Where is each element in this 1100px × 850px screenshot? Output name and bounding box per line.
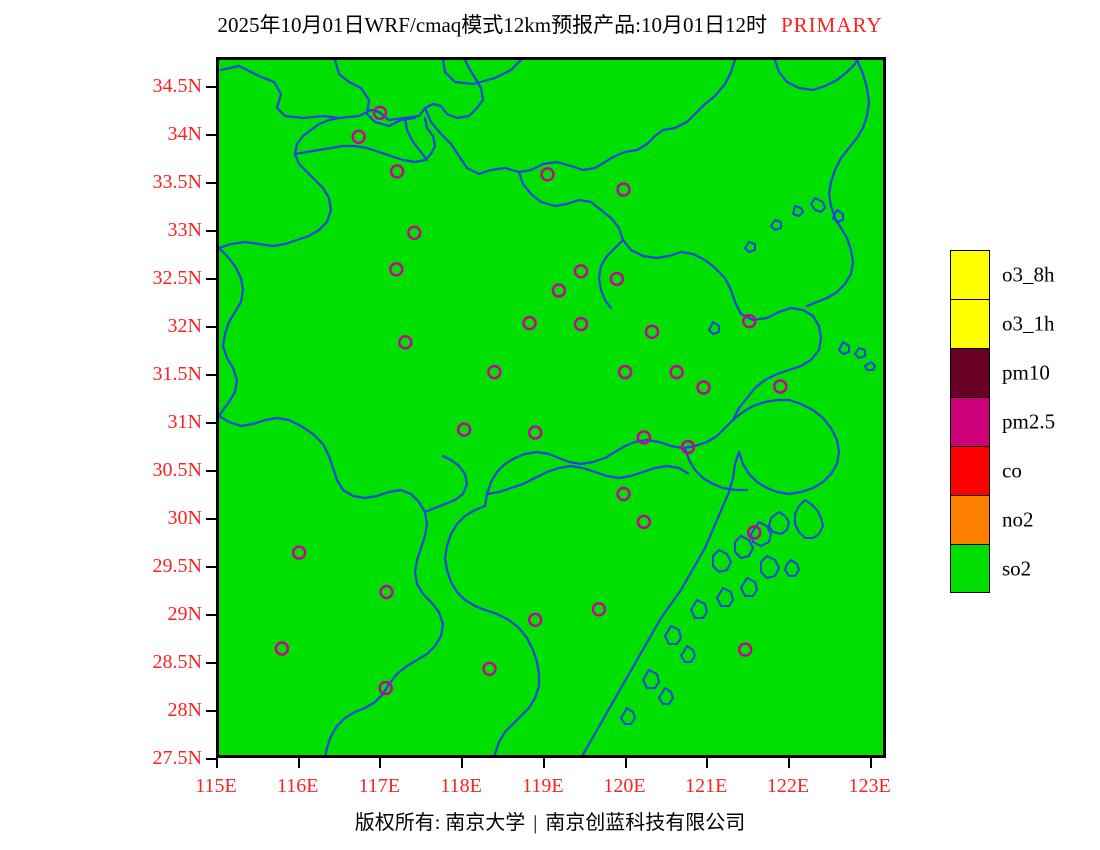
legend-item-so2[interactable]: so2 bbox=[950, 544, 990, 593]
y-tick-label: 32.5N bbox=[153, 268, 202, 288]
legend-color-swatch bbox=[950, 495, 990, 544]
y-tick-label: 28.5N bbox=[153, 652, 202, 672]
x-tick-mark bbox=[870, 758, 872, 768]
legend-item-pm2-5[interactable]: pm2.5 bbox=[950, 397, 990, 446]
station-marker[interactable] bbox=[391, 165, 403, 177]
x-tick-mark bbox=[625, 758, 627, 768]
station-marker[interactable] bbox=[618, 488, 630, 500]
forecast-map-page: 2025年10月01日WRF/cmaq模式12km预报产品:10月01日12时P… bbox=[0, 0, 1100, 850]
x-tick-mark bbox=[461, 758, 463, 768]
y-tick-mark bbox=[206, 326, 216, 328]
station-marker[interactable] bbox=[381, 586, 393, 598]
station-marker[interactable] bbox=[671, 366, 683, 378]
x-tick-label: 121E bbox=[685, 776, 727, 796]
y-tick-mark bbox=[206, 614, 216, 616]
station-marker[interactable] bbox=[542, 168, 554, 180]
station-marker[interactable] bbox=[619, 366, 631, 378]
y-tick-mark bbox=[206, 518, 216, 520]
legend-item-o3-8h[interactable]: o3_8h bbox=[950, 250, 990, 299]
y-tick-mark bbox=[206, 182, 216, 184]
station-marker[interactable] bbox=[575, 318, 587, 330]
x-tick-label: 123E bbox=[849, 776, 891, 796]
y-tick-mark bbox=[206, 662, 216, 664]
station-marker[interactable] bbox=[593, 603, 605, 615]
station-marker[interactable] bbox=[524, 317, 536, 329]
station-marker[interactable] bbox=[646, 326, 658, 338]
station-marker[interactable] bbox=[618, 184, 630, 196]
y-tick-label: 33N bbox=[168, 220, 202, 240]
legend-label: o3_8h bbox=[1002, 264, 1055, 285]
station-marker[interactable] bbox=[276, 643, 288, 655]
legend-label: no2 bbox=[1002, 509, 1034, 530]
station-marker[interactable] bbox=[553, 285, 565, 297]
station-marker[interactable] bbox=[408, 227, 420, 239]
y-tick-mark bbox=[206, 278, 216, 280]
x-tick-mark bbox=[788, 758, 790, 768]
y-tick-mark bbox=[206, 422, 216, 424]
legend-color-swatch bbox=[950, 299, 990, 348]
station-marker[interactable] bbox=[390, 263, 402, 275]
station-marker[interactable] bbox=[529, 427, 541, 439]
legend-item-o3-1h[interactable]: o3_1h bbox=[950, 299, 990, 348]
y-tick-mark bbox=[206, 710, 216, 712]
y-tick-label: 28N bbox=[168, 700, 202, 720]
station-marker[interactable] bbox=[399, 336, 411, 348]
station-marker[interactable] bbox=[488, 366, 500, 378]
station-marker[interactable] bbox=[611, 273, 623, 285]
x-tick-label: 122E bbox=[767, 776, 809, 796]
copyright-footer: 版权所有: 南京大学|南京创蓝科技有限公司 bbox=[0, 811, 1100, 835]
x-tick-mark bbox=[298, 758, 300, 768]
station-marker[interactable] bbox=[529, 614, 541, 626]
y-tick-mark bbox=[206, 374, 216, 376]
station-marker[interactable] bbox=[353, 131, 365, 143]
legend-label: pm10 bbox=[1002, 362, 1050, 383]
y-tick-mark bbox=[206, 86, 216, 88]
x-tick-label: 116E bbox=[277, 776, 318, 796]
page-title: 2025年10月01日WRF/cmaq模式12km预报产品:10月01日12时P… bbox=[0, 12, 1100, 38]
x-tick-label: 119E bbox=[522, 776, 563, 796]
legend-item-co[interactable]: co bbox=[950, 446, 990, 495]
legend-item-no2[interactable]: no2 bbox=[950, 495, 990, 544]
y-tick-label: 34N bbox=[168, 124, 202, 144]
y-tick-label: 33.5N bbox=[153, 172, 202, 192]
x-tick-label: 118E bbox=[440, 776, 481, 796]
page-title-flag: PRIMARY bbox=[781, 13, 883, 37]
legend-item-pm10[interactable]: pm10 bbox=[950, 348, 990, 397]
copyright-company: 南京创蓝科技有限公司 bbox=[545, 812, 745, 834]
legend-label: co bbox=[1002, 460, 1022, 481]
station-marker[interactable] bbox=[293, 547, 305, 559]
x-tick-label: 115E bbox=[195, 776, 236, 796]
x-tick-mark bbox=[706, 758, 708, 768]
legend-color-swatch bbox=[950, 250, 990, 299]
station-marker[interactable] bbox=[774, 381, 786, 393]
legend-label: pm2.5 bbox=[1002, 411, 1055, 432]
map-plot-area[interactable]: 27.5N28N28.5N29N29.5N30N30.5N31N31.5N32N… bbox=[216, 57, 886, 758]
y-tick-mark bbox=[206, 230, 216, 232]
x-tick-mark bbox=[379, 758, 381, 768]
page-title-main: 2025年10月01日WRF/cmaq模式12km预报产品:10月01日12时 bbox=[217, 13, 767, 37]
legend-color-swatch bbox=[950, 348, 990, 397]
y-tick-mark bbox=[206, 470, 216, 472]
y-tick-label: 31.5N bbox=[153, 364, 202, 384]
y-tick-label: 29.5N bbox=[153, 556, 202, 576]
y-tick-label: 27.5N bbox=[153, 748, 202, 768]
legend-label: o3_1h bbox=[1002, 313, 1055, 334]
x-tick-mark bbox=[543, 758, 545, 768]
pollutant-legend[interactable]: o3_8ho3_1hpm10pm2.5cono2so2 bbox=[950, 250, 990, 593]
map-vector-layer bbox=[219, 60, 886, 758]
legend-color-swatch bbox=[950, 544, 990, 593]
x-tick-label: 117E bbox=[359, 776, 400, 796]
x-tick-label: 120E bbox=[603, 776, 645, 796]
station-marker[interactable] bbox=[638, 516, 650, 528]
province-boundary-lines bbox=[219, 60, 869, 758]
map-canvas[interactable] bbox=[216, 57, 886, 758]
y-tick-label: 30N bbox=[168, 508, 202, 528]
station-marker[interactable] bbox=[739, 644, 751, 656]
y-tick-mark bbox=[206, 566, 216, 568]
copyright-owner: 版权所有: 南京大学 bbox=[355, 812, 526, 834]
station-marker[interactable] bbox=[484, 663, 496, 675]
station-marker[interactable] bbox=[698, 382, 710, 394]
footer-separator: | bbox=[525, 811, 545, 835]
y-tick-label: 30.5N bbox=[153, 460, 202, 480]
station-marker[interactable] bbox=[458, 424, 470, 436]
legend-color-swatch bbox=[950, 446, 990, 495]
x-tick-mark bbox=[216, 758, 218, 768]
legend-color-swatch bbox=[950, 397, 990, 446]
y-tick-mark bbox=[206, 758, 216, 760]
y-tick-label: 32N bbox=[168, 316, 202, 336]
station-marker[interactable] bbox=[575, 265, 587, 277]
y-tick-label: 29N bbox=[168, 604, 202, 624]
y-tick-label: 31N bbox=[168, 412, 202, 432]
legend-label: so2 bbox=[1002, 558, 1031, 579]
y-tick-mark bbox=[206, 134, 216, 136]
y-tick-label: 34.5N bbox=[153, 76, 202, 96]
